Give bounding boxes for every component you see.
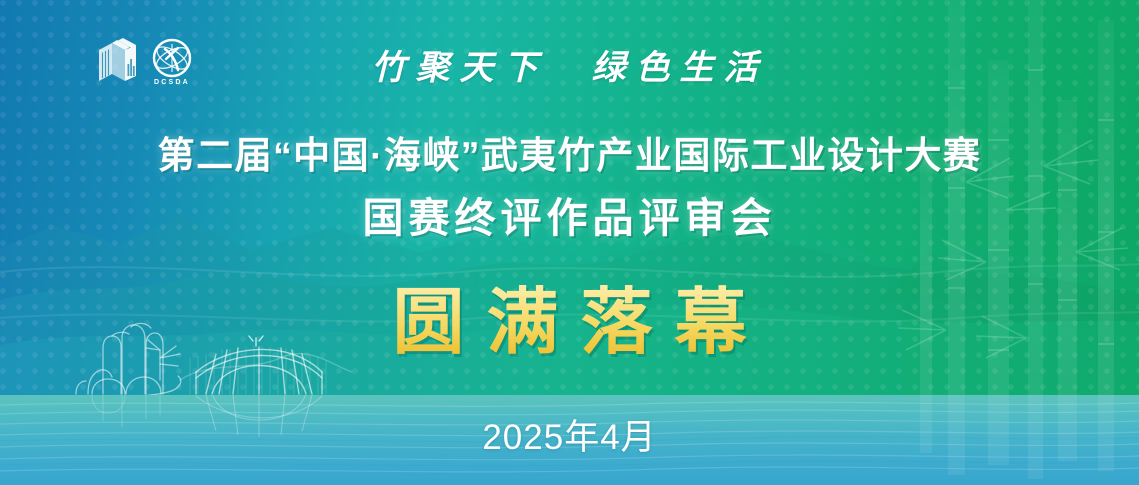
event-title-line1: 第二届“中国·海峡”武夷竹产业国际工业设计大赛 xyxy=(0,125,1139,179)
headline-completion: 圆满落幕 xyxy=(0,263,1139,368)
event-date: 2025年4月 xyxy=(0,409,1139,460)
event-title-line2: 国赛终评作品评审会 xyxy=(0,184,1139,244)
tagline: 竹聚天下 绿色生活 xyxy=(0,40,1139,89)
event-banner: DCSDA 竹聚天下 绿色生活 第二届“中国·海峡”武夷竹产业国际工业设计大赛 … xyxy=(0,0,1139,485)
